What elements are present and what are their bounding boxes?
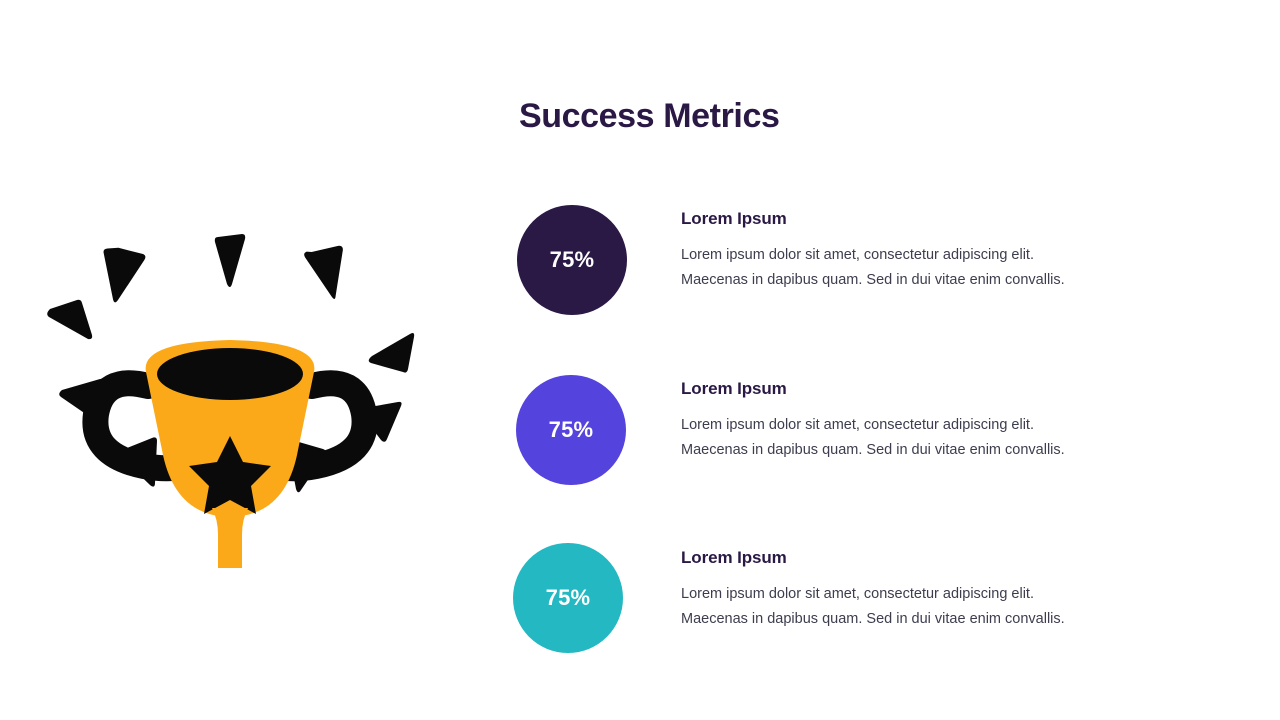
metric-body: Lorem ipsum dolor sit amet, consectetur … [681, 582, 1131, 632]
metric-badge[interactable]: 75% [517, 205, 627, 315]
slide-canvas: Success Metrics [0, 0, 1280, 720]
metric-text-block: Lorem Ipsum Lorem ipsum dolor sit amet, … [627, 190, 1165, 293]
metric-badge[interactable]: 75% [516, 375, 626, 485]
page-title: Success Metrics [519, 97, 780, 136]
metric-row: 75% Lorem Ipsum Lorem ipsum dolor sit am… [505, 360, 1165, 530]
metric-heading: Lorem Ipsum [681, 548, 1165, 568]
metric-body-line: Lorem ipsum dolor sit amet, consectetur … [681, 417, 1034, 433]
metric-row: 75% Lorem Ipsum Lorem ipsum dolor sit am… [505, 190, 1165, 360]
metric-heading: Lorem Ipsum [681, 379, 1165, 399]
trophy-icon [20, 208, 440, 568]
trophy-stem [212, 508, 248, 568]
metric-body-line: Maecenas in dapibus quam. Sed in dui vit… [681, 272, 1065, 288]
trophy-illustration [20, 208, 440, 568]
metric-text-block: Lorem Ipsum Lorem ipsum dolor sit amet, … [623, 530, 1165, 632]
metric-body-line: Lorem ipsum dolor sit amet, consectetur … [681, 586, 1034, 602]
metric-row: 75% Lorem Ipsum Lorem ipsum dolor sit am… [505, 530, 1165, 700]
trophy-rim [157, 348, 303, 400]
metric-value: 75% [549, 417, 594, 443]
metrics-list: 75% Lorem Ipsum Lorem ipsum dolor sit am… [505, 190, 1165, 700]
metric-body-line: Lorem ipsum dolor sit amet, consectetur … [681, 247, 1034, 263]
metric-value: 75% [550, 247, 595, 273]
metric-value: 75% [546, 585, 591, 611]
metric-body-line: Maecenas in dapibus quam. Sed in dui vit… [681, 442, 1065, 458]
metric-body: Lorem ipsum dolor sit amet, consectetur … [681, 243, 1131, 293]
metric-badge[interactable]: 75% [513, 543, 623, 653]
metric-body: Lorem ipsum dolor sit amet, consectetur … [681, 413, 1131, 463]
metric-body-line: Maecenas in dapibus quam. Sed in dui vit… [681, 611, 1065, 627]
metric-text-block: Lorem Ipsum Lorem ipsum dolor sit amet, … [626, 360, 1165, 463]
metric-heading: Lorem Ipsum [681, 209, 1165, 229]
trophy-cup [146, 340, 315, 517]
